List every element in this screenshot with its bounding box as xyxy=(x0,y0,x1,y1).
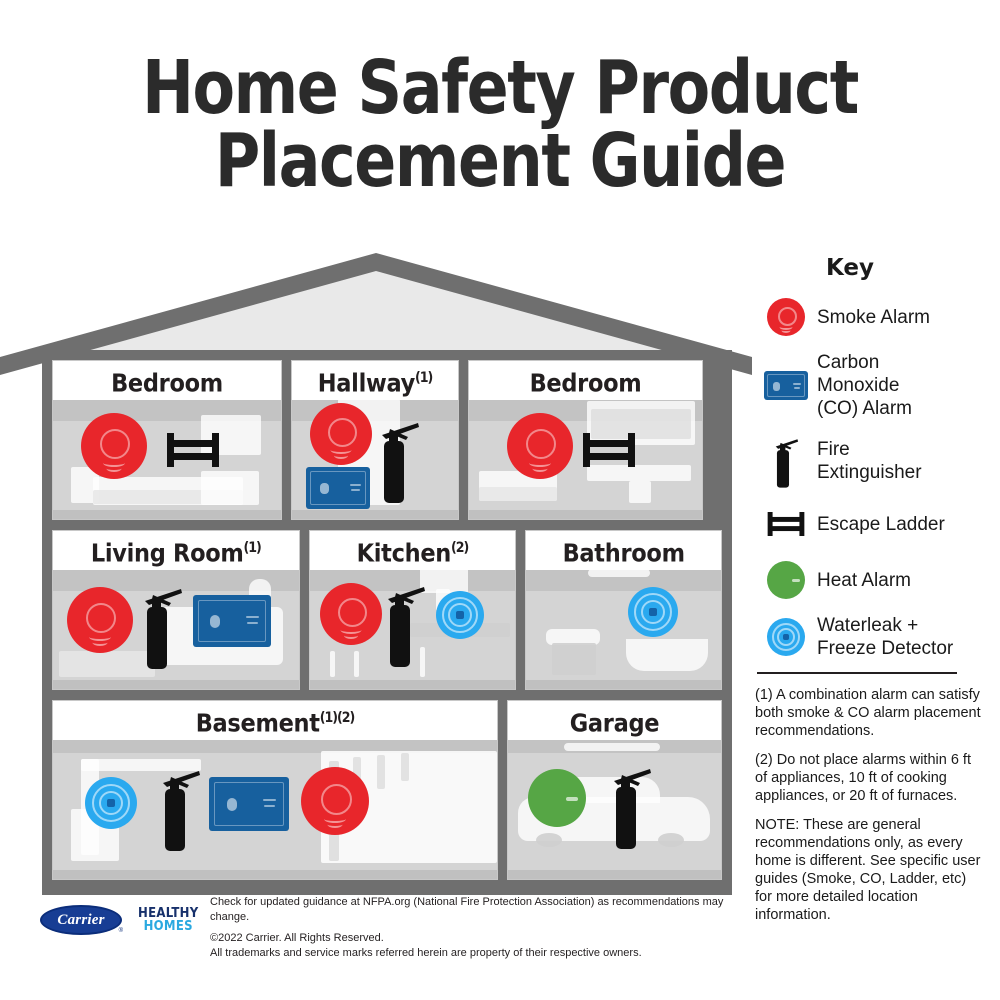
waterleak-detector-icon[interactable] xyxy=(628,587,678,637)
stair-rail xyxy=(401,753,409,781)
house-diagram: Bedroom xyxy=(0,250,752,900)
key-icon-slot xyxy=(755,295,817,339)
key-label: Smoke Alarm xyxy=(817,306,930,329)
escape-ladder-icon xyxy=(766,512,806,536)
key-icon-slot xyxy=(755,364,817,408)
key-item-heat-alarm[interactable]: Heat Alarm xyxy=(755,558,1000,602)
room-bedroom-left[interactable]: Bedroom xyxy=(52,360,282,520)
carrier-logo-text: Carrier xyxy=(40,905,122,935)
carrier-logo: Carrier ® xyxy=(40,905,122,935)
room-label: Bathroom xyxy=(526,531,721,570)
fire-extinguisher-icon[interactable] xyxy=(610,757,652,853)
key-icon-slot xyxy=(755,502,817,546)
fire-extinguisher-icon[interactable] xyxy=(159,759,201,855)
room-label: Garage xyxy=(508,701,721,740)
smoke-alarm-icon[interactable] xyxy=(310,403,372,465)
room-label: Hallway(1) xyxy=(292,361,458,400)
room-basement[interactable]: Basement(1)(2) xyxy=(52,700,498,880)
furniture-car-wheel xyxy=(536,833,562,847)
fire-extinguisher-icon[interactable] xyxy=(384,575,426,671)
page-title: Home Safety Product Placement Guide xyxy=(35,52,965,199)
floor-lower: Basement(1)(2) xyxy=(42,700,732,880)
house-body: Bedroom xyxy=(42,350,732,895)
furniture-dresser xyxy=(201,471,259,505)
note-2: (2) Do not place alarms within 6 ft of a… xyxy=(755,751,983,805)
heat-alarm-icon[interactable] xyxy=(528,769,586,827)
note-3: NOTE: These are general recommendations … xyxy=(755,816,983,924)
garage-light xyxy=(564,743,660,751)
stair-rail xyxy=(377,755,385,789)
key-label: Fire Extinguisher xyxy=(817,438,922,484)
title-line-2: Placement Guide xyxy=(35,125,965,198)
room-label: Kitchen(2) xyxy=(310,531,516,570)
key-panel: Key Smoke Alarm xyxy=(755,255,1000,935)
key-item-co-alarm[interactable]: Carbon Monoxide (CO) Alarm xyxy=(755,351,1000,420)
smoke-alarm-icon[interactable] xyxy=(67,587,133,653)
key-item-escape-ladder[interactable]: Escape Ladder xyxy=(755,502,1000,546)
room-label: Living Room(1) xyxy=(53,531,299,570)
smoke-alarm-icon[interactable] xyxy=(320,583,382,645)
key-label: Carbon Monoxide (CO) Alarm xyxy=(817,351,912,420)
floor-upper: Bedroom xyxy=(42,360,732,520)
room-label: Bedroom xyxy=(53,361,281,400)
furniture-desk xyxy=(587,465,691,481)
furniture-stool-leg xyxy=(330,651,335,677)
furniture-bedbase xyxy=(479,487,557,501)
room-interior xyxy=(292,395,458,519)
footer-logos: Carrier ® HEALTHY HOMES xyxy=(40,895,210,935)
footer-trademarks: All trademarks and service marks referre… xyxy=(210,946,760,961)
furniture-stool-leg xyxy=(354,651,359,677)
smoke-alarm-icon[interactable] xyxy=(301,767,369,835)
furniture-bathtub xyxy=(626,639,708,671)
room-interior xyxy=(508,735,721,879)
registered-mark-icon: ® xyxy=(119,928,123,934)
escape-ladder-icon[interactable] xyxy=(165,433,221,467)
note-1: (1) A combination alarm can satisfy both… xyxy=(755,686,983,740)
footer-text: Check for updated guidance at NFPA.org (… xyxy=(210,895,760,960)
notes-block: (1) A combination alarm can satisfy both… xyxy=(755,686,983,924)
key-icon-slot xyxy=(755,432,817,490)
key-icon-slot xyxy=(755,558,817,602)
key-item-smoke-alarm[interactable]: Smoke Alarm xyxy=(755,295,1000,339)
room-kitchen[interactable]: Kitchen(2) xyxy=(309,530,517,690)
room-interior xyxy=(53,395,281,519)
co-alarm-icon xyxy=(764,371,808,400)
waterleak-detector-icon[interactable] xyxy=(85,777,137,829)
footer-guidance: Check for updated guidance at NFPA.org (… xyxy=(210,895,760,924)
room-bathroom[interactable]: Bathroom xyxy=(525,530,722,690)
escape-ladder-icon[interactable] xyxy=(581,433,637,467)
footer-copyright: ©2022 Carrier. All Rights Reserved. xyxy=(210,931,760,946)
room-garage[interactable]: Garage xyxy=(507,700,722,880)
footer: Carrier ® HEALTHY HOMES Check for update… xyxy=(40,895,760,960)
fire-extinguisher-icon[interactable] xyxy=(141,577,183,673)
key-label: Waterleak + Freeze Detector xyxy=(817,614,953,660)
room-living-room[interactable]: Living Room(1) xyxy=(52,530,300,690)
heat-alarm-icon xyxy=(767,561,805,599)
key-icon-slot xyxy=(755,615,817,659)
infographic-page: Home Safety Product Placement Guide Bedr… xyxy=(0,0,1000,1000)
furniture-stool xyxy=(629,481,651,503)
key-label: Escape Ladder xyxy=(817,513,945,536)
room-interior xyxy=(53,735,497,879)
waterleak-detector-icon[interactable] xyxy=(436,591,484,639)
key-item-fire-extinguisher[interactable]: Fire Extinguisher xyxy=(755,432,1000,490)
room-interior xyxy=(310,565,516,689)
fire-extinguisher-icon xyxy=(769,432,803,490)
room-label: Bedroom xyxy=(469,361,702,400)
furniture-toilet-base xyxy=(552,643,596,675)
co-alarm-icon[interactable] xyxy=(209,777,289,831)
smoke-alarm-icon xyxy=(767,298,805,336)
key-divider xyxy=(757,672,957,674)
waterleak-detector-icon xyxy=(767,618,805,656)
key-item-waterleak-detector[interactable]: Waterleak + Freeze Detector xyxy=(755,614,1000,660)
fire-extinguisher-icon[interactable] xyxy=(378,411,420,507)
healthy-homes-line-2: HOMES xyxy=(138,920,198,933)
room-label: Basement(1)(2) xyxy=(53,701,497,740)
co-alarm-icon[interactable] xyxy=(193,595,271,647)
room-interior xyxy=(526,565,721,689)
room-bedroom-right[interactable]: Bedroom xyxy=(468,360,703,520)
room-hallway[interactable]: Hallway(1) xyxy=(291,360,459,520)
furniture-car-wheel xyxy=(658,833,684,847)
key-title: Key xyxy=(755,255,945,281)
key-label: Heat Alarm xyxy=(817,569,911,592)
floor-main: Living Room(1) xyxy=(42,530,732,690)
healthy-homes-logo: HEALTHY HOMES xyxy=(138,907,198,933)
co-alarm-icon[interactable] xyxy=(306,467,370,509)
smoke-alarm-icon[interactable] xyxy=(81,413,147,479)
smoke-alarm-icon[interactable] xyxy=(507,413,573,479)
room-interior xyxy=(469,395,702,519)
room-interior xyxy=(53,565,299,689)
